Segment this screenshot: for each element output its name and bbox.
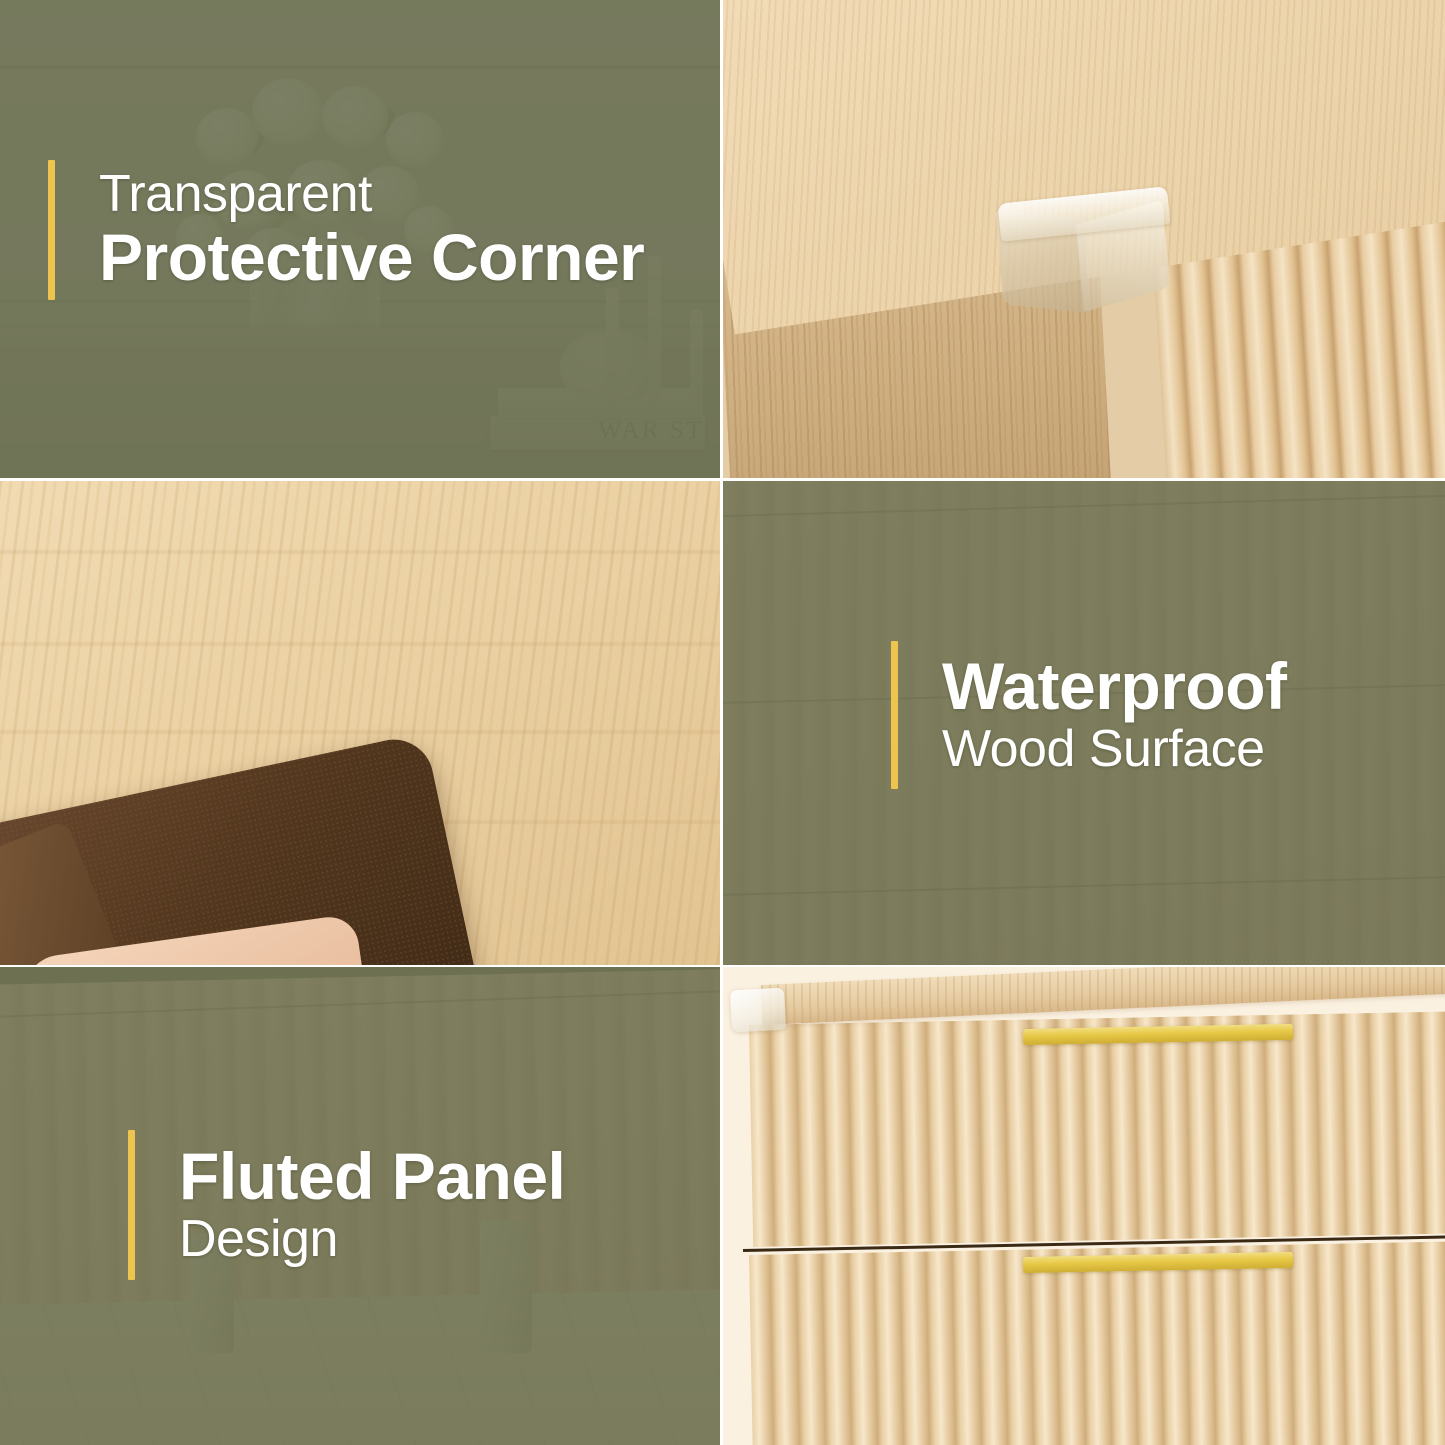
accent-bar — [891, 641, 898, 789]
wood-grain-line — [0, 643, 720, 645]
panel-fluted-drawers-photo — [723, 967, 1445, 1445]
panel-4-heading: Waterproof — [942, 652, 1287, 722]
panel-1-text-block: Transparent Protective Corner — [48, 160, 644, 300]
accent-bar — [128, 1130, 135, 1280]
corner-protector — [730, 988, 786, 1033]
feature-collage: WAR ST Transparent Protective Corner — [0, 0, 1445, 1445]
panel-1-subheading: Transparent — [99, 167, 644, 222]
accent-bar — [48, 160, 55, 300]
panel-waterproof-photo — [0, 481, 720, 965]
panel-5-text-block: Fluted Panel Design — [128, 1130, 565, 1280]
panel-5-heading: Fluted Panel — [179, 1142, 565, 1212]
panel-4-text-block: Waterproof Wood Surface — [891, 641, 1287, 789]
wood-grain-line — [0, 551, 720, 553]
panel-corner-protector-photo — [723, 0, 1445, 478]
panel-1-heading: Protective Corner — [99, 223, 644, 293]
panel-transparent-protective-corner: WAR ST Transparent Protective Corner — [0, 0, 720, 478]
drawer-front-upper — [749, 1010, 1445, 1247]
panel-waterproof-wood-surface: Waterproof Wood Surface — [723, 481, 1445, 965]
wood-grain-line — [0, 731, 720, 733]
panel-fluted-panel-design: Fluted Panel Design — [0, 967, 720, 1445]
panel-5-subheading: Design — [179, 1212, 565, 1267]
panel-4-subheading: Wood Surface — [942, 722, 1287, 777]
